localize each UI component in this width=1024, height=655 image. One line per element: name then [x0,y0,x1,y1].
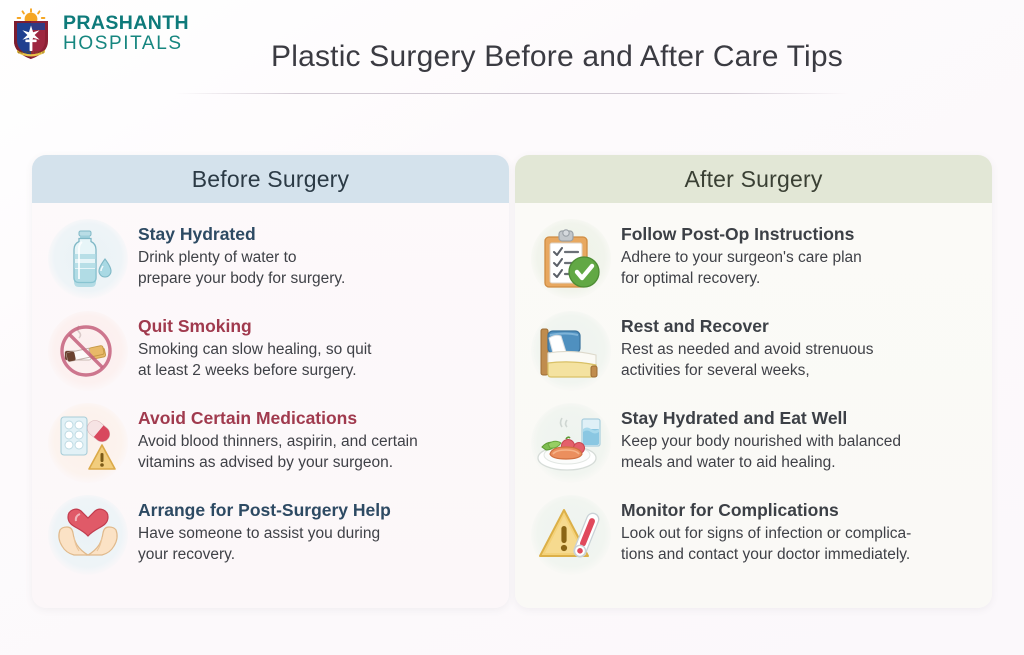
list-item-text: Stay Hydrated and Eat Well Keep your bod… [621,403,901,474]
tip-description-line: prepare your body for surgery. [138,268,345,289]
water-bottle-icon [48,219,128,299]
tip-description-line: Rest as needed and avoid strenuous [621,339,873,360]
tip-description-line: Avoid blood thinners, aspirin, and certa… [138,431,418,452]
tip-description-line: Smoking can slow healing, so quit [138,339,372,360]
card-before-heading: Before Surgery [32,155,509,203]
clipboard-check-icon [531,219,611,299]
tip-description: Smoking can slow healing, so quit at lea… [138,339,372,382]
tip-description: Rest as needed and avoid strenuous activ… [621,339,873,382]
list-item: Stay Hydrated and Eat Well Keep your bod… [531,403,974,483]
card-before-body: Stay Hydrated Drink plenty of water to p… [32,203,509,575]
list-item: Monitor for Complications Look out for s… [531,495,974,575]
list-item-text: Monitor for Complications Look out for s… [621,495,911,566]
tip-description-line: meals and water to aid healing. [621,452,901,473]
list-item: Stay Hydrated Drink plenty of water to p… [48,219,491,299]
list-item: Quit Smoking Smoking can slow healing, s… [48,311,491,391]
tip-title: Quit Smoking [138,316,372,338]
warning-thermometer-icon [531,495,611,575]
tip-description: Have someone to assist you during your r… [138,523,391,566]
tip-description-line: Keep your body nourished with balanced [621,431,901,452]
card-after-heading: After Surgery [515,155,992,203]
list-item-text: Follow Post-Op Instructions Adhere to yo… [621,219,862,290]
tip-title: Stay Hydrated and Eat Well [621,408,901,430]
list-item: Follow Post-Op Instructions Adhere to yo… [531,219,974,299]
tip-description-line: Adhere to your surgeon's care plan [621,247,862,268]
bed-rest-icon [531,311,611,391]
card-after-surgery: After Surgery [515,155,992,608]
tip-description-line: tions and contact your doctor immediatel… [621,544,911,565]
tip-title: Avoid Certain Medications [138,408,418,430]
list-item-text: Rest and Recover Rest as needed and avoi… [621,311,873,382]
tip-description: Drink plenty of water to prepare your bo… [138,247,345,290]
healthy-meal-icon [531,403,611,483]
page-title: Plastic Surgery Before and After Care Ti… [0,40,1024,74]
list-item: Avoid Certain Medications Avoid blood th… [48,403,491,483]
pills-warning-icon [48,403,128,483]
card-after-body: Follow Post-Op Instructions Adhere to yo… [515,203,992,575]
tip-title: Rest and Recover [621,316,873,338]
list-item: Arrange for Post-Surgery Help Have someo… [48,495,491,575]
tip-description-line: Look out for signs of infection or compl… [621,523,911,544]
list-item-text: Arrange for Post-Surgery Help Have someo… [138,495,391,566]
tip-description-line: for optimal recovery. [621,268,862,289]
tip-title: Arrange for Post-Surgery Help [138,500,391,522]
infographic-canvas: WE CARE FOR U PRASHANTH HOSPITALS Plasti… [0,0,1024,655]
title-divider [175,93,848,94]
tip-description: Look out for signs of infection or compl… [621,523,911,566]
list-item-text: Avoid Certain Medications Avoid blood th… [138,403,418,474]
tip-title: Follow Post-Op Instructions [621,224,862,246]
tip-description: Adhere to your surgeon's care plan for o… [621,247,862,290]
tip-description-line: activities for several weeks, [621,360,873,381]
card-before-surgery: Before Surgery [32,155,509,608]
no-smoking-icon [48,311,128,391]
tip-description-line: Have someone to assist you during [138,523,391,544]
tip-description: Avoid blood thinners, aspirin, and certa… [138,431,418,474]
list-item: Rest and Recover Rest as needed and avoi… [531,311,974,391]
tip-description-line: Drink plenty of water to [138,247,345,268]
brand-name-primary: PRASHANTH [63,14,189,34]
list-item-text: Quit Smoking Smoking can slow healing, s… [138,311,372,382]
tip-description-line: your recovery. [138,544,391,565]
tip-description: Keep your body nourished with balanced m… [621,431,901,474]
list-item-text: Stay Hydrated Drink plenty of water to p… [138,219,345,290]
heart-in-hands-icon [48,495,128,575]
tip-description-line: at least 2 weeks before surgery. [138,360,372,381]
tip-title: Monitor for Complications [621,500,911,522]
tip-title: Stay Hydrated [138,224,345,246]
tip-description-line: vitamins as advised by your surgeon. [138,452,418,473]
